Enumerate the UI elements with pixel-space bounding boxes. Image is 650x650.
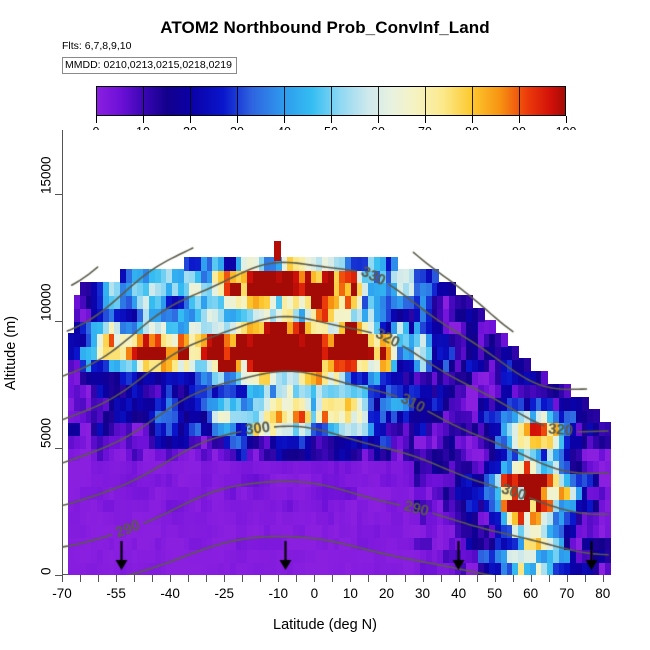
x-axis-tick-label: -70 — [32, 586, 92, 601]
x-axis-tick-label: -25 — [194, 586, 254, 601]
x-axis-tick-label: -55 — [86, 586, 146, 601]
figure-root: ATOM2 Northbound Prob_ConvInf_Land Flts:… — [0, 0, 650, 650]
colorbar-ticks — [96, 116, 566, 124]
site-arrow-markers — [63, 130, 611, 575]
heatmap-canvas-host — [63, 130, 611, 575]
plot-area — [62, 130, 610, 575]
flights-subtitle: Flts: 6,7,8,9,10 — [62, 40, 131, 52]
y-axis-title: Altitude (m) — [2, 130, 20, 575]
x-axis-tick-label: 80 — [573, 586, 633, 601]
figure-title: ATOM2 Northbound Prob_ConvInf_Land — [0, 18, 650, 38]
x-axis-title: Latitude (deg N) — [0, 617, 650, 633]
y-axis-ticks — [55, 130, 63, 575]
mmdd-subtitle: MMDD: 0210,0213,0215,0218,0219 — [62, 57, 237, 74]
colorbar — [96, 86, 566, 116]
x-axis-ticks — [62, 575, 610, 583]
x-axis-tick-labels: -70-55-40-25-1001020304050607080 — [0, 586, 650, 604]
y-axis-title-text: Altitude (m) — [3, 315, 19, 389]
x-axis-tick-label: -40 — [140, 586, 200, 601]
